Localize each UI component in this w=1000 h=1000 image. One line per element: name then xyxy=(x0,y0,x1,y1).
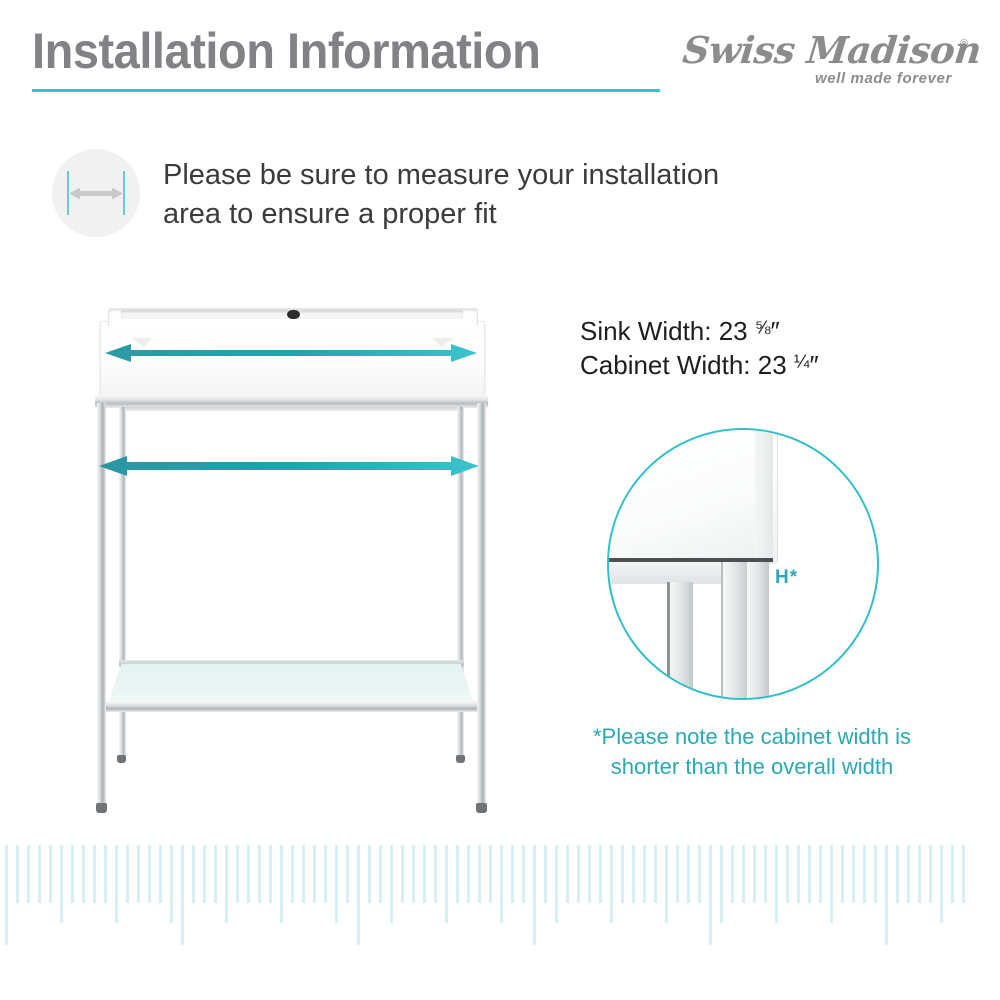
cabinet-overhang-detail-circle: H* xyxy=(607,428,879,700)
ruler-tick xyxy=(709,845,712,945)
ruler-tick xyxy=(489,845,492,903)
ruler-tick xyxy=(918,845,921,903)
ruler-tick xyxy=(533,845,536,945)
ruler-tick xyxy=(654,845,657,903)
ruler-tick xyxy=(951,845,954,903)
cabinet-width-fraction: ¼ xyxy=(794,351,810,372)
ruler-tick xyxy=(599,845,602,903)
ruler-tick xyxy=(665,845,668,923)
leveling-foot-back-left xyxy=(117,755,126,763)
ruler-tick xyxy=(236,845,239,903)
ruler-tick xyxy=(500,845,503,923)
dimension-spec-list: Sink Width: 23 ⅝″ Cabinet Width: 23 ¼″ xyxy=(580,314,819,383)
ruler-tick xyxy=(225,845,228,923)
page-title: Installation Information xyxy=(32,22,540,80)
ruler-tick xyxy=(588,845,591,903)
ruler-tick xyxy=(291,845,294,903)
ruler-tick xyxy=(93,845,96,903)
leveling-foot-front-right xyxy=(476,803,487,813)
frame-top-rail-back xyxy=(120,407,463,411)
header-divider xyxy=(32,89,660,92)
callout-frame-leg-mid xyxy=(721,562,749,700)
callout-sink-body xyxy=(607,428,778,564)
ruler-tick xyxy=(412,845,415,903)
ruler-tick xyxy=(764,845,767,903)
ruler-tick xyxy=(643,845,646,903)
ruler-tick xyxy=(940,845,943,923)
cabinet-width-label: Cabinet Width: 23 xyxy=(580,350,787,380)
ruler-tick xyxy=(896,845,899,903)
glass-shelf xyxy=(107,663,475,706)
ruler-tick xyxy=(115,845,118,923)
ruler-tick xyxy=(698,845,701,903)
leveling-foot-back-right xyxy=(456,755,465,763)
sink-width-fraction: ⅝ xyxy=(755,317,771,338)
installation-information-page: Installation Information Swiss Madison ®… xyxy=(0,0,1000,1000)
ruler-tick xyxy=(148,845,151,903)
ruler-tick xyxy=(929,845,932,903)
ruler-tick xyxy=(621,845,624,903)
callout-frame-leg-front xyxy=(747,562,769,700)
ruler-tick xyxy=(203,845,206,903)
ruler-tick xyxy=(676,845,679,903)
ruler-tick xyxy=(192,845,195,903)
ruler-tick xyxy=(632,845,635,903)
ruler-tick xyxy=(401,845,404,903)
ruler-tick xyxy=(280,845,283,923)
ruler-tick xyxy=(379,845,382,903)
ruler-tick xyxy=(368,845,371,903)
cabinet-width-unit: ″ xyxy=(810,350,819,380)
cabinet-width-spec: Cabinet Width: 23 ¼″ xyxy=(580,348,819,382)
leveling-foot-front-left xyxy=(96,803,107,813)
ruler-tick xyxy=(863,845,866,903)
ruler-tick xyxy=(467,845,470,903)
ruler-tick xyxy=(71,845,74,903)
ruler-tick xyxy=(544,845,547,903)
registered-trademark-icon: ® xyxy=(960,38,968,50)
ruler-tick xyxy=(962,845,965,903)
ruler-tick xyxy=(511,845,514,903)
callout-frame-leg-shadow xyxy=(667,582,670,700)
ruler-tick xyxy=(346,845,349,903)
cabinet-width-arrow xyxy=(99,455,479,477)
ruler-tick xyxy=(269,845,272,903)
faucet-hole-icon xyxy=(287,310,300,319)
vanity-illustration xyxy=(95,295,495,815)
brand-logo-tagline: well made forever xyxy=(815,70,952,87)
ruler-tick xyxy=(819,845,822,903)
ruler-tick xyxy=(16,845,19,903)
sink-width-unit: ″ xyxy=(770,316,779,346)
sink-width-label: Sink Width: 23 xyxy=(580,316,748,346)
ruler-tick xyxy=(258,845,261,903)
cabinet-width-footnote: *Please note the cabinet width is shorte… xyxy=(572,722,932,783)
ruler-tick xyxy=(335,845,338,923)
ruler-tick xyxy=(610,845,613,923)
ruler-tick xyxy=(170,845,173,923)
ruler-tick xyxy=(841,845,844,903)
ruler-tick xyxy=(390,845,393,923)
ruler-tick xyxy=(423,845,426,903)
ruler-tick xyxy=(753,845,756,903)
ruler-tick xyxy=(5,845,8,945)
ruler-tick xyxy=(566,845,569,903)
ruler-tick xyxy=(456,845,459,903)
ruler-tick xyxy=(775,845,778,923)
ruler-tick xyxy=(324,845,327,903)
ruler-tick xyxy=(720,845,723,923)
brand-logo: Swiss Madison ® well made forever xyxy=(683,28,975,90)
ruler-tick xyxy=(797,845,800,903)
measuring-tape-ruler-graphic xyxy=(0,845,1000,975)
ruler-tick xyxy=(731,845,734,903)
ruler-tick xyxy=(49,845,52,903)
ruler-tick xyxy=(555,845,558,923)
ruler-tick xyxy=(137,845,140,903)
overhang-measure-marker: H* xyxy=(775,568,798,587)
ruler-tick xyxy=(687,845,690,903)
ruler-tick xyxy=(874,845,877,903)
ruler-tick xyxy=(830,845,833,923)
ruler-tick xyxy=(478,845,481,903)
ruler-tick xyxy=(808,845,811,903)
measure-instruction-text: Please be sure to measure your installat… xyxy=(163,156,763,233)
measure-badge xyxy=(52,149,140,237)
ruler-tick xyxy=(27,845,30,903)
ruler-tick xyxy=(786,845,789,903)
shelf-rail-front xyxy=(97,701,486,712)
callout-frame-leg-back xyxy=(669,582,693,700)
ruler-tick xyxy=(302,845,305,903)
double-arrow-measure-icon xyxy=(69,187,123,200)
brand-logo-wordmark: Swiss Madison xyxy=(681,28,984,72)
ruler-tick xyxy=(852,845,855,903)
ruler-tick xyxy=(313,845,316,903)
ruler-tick xyxy=(214,845,217,903)
measure-tick-right xyxy=(123,171,125,215)
ruler-tick xyxy=(247,845,250,903)
ruler-tick xyxy=(159,845,162,903)
ruler-tick xyxy=(357,845,360,945)
ruler-tick xyxy=(577,845,580,903)
ruler-tick xyxy=(885,845,888,945)
ruler-tick xyxy=(742,845,745,903)
sink-width-spec: Sink Width: 23 ⅝″ xyxy=(580,314,819,348)
ruler-tick xyxy=(82,845,85,903)
ruler-tick xyxy=(434,845,437,903)
callout-sink-edge xyxy=(755,428,773,564)
ruler-tick xyxy=(522,845,525,903)
ruler-tick xyxy=(38,845,41,903)
ruler-tick xyxy=(126,845,129,903)
ruler-tick xyxy=(445,845,448,923)
ruler-tick xyxy=(907,845,910,903)
ruler-tick xyxy=(104,845,107,903)
ruler-tick xyxy=(181,845,184,945)
sink-width-arrow xyxy=(105,342,477,364)
ruler-tick xyxy=(60,845,63,923)
